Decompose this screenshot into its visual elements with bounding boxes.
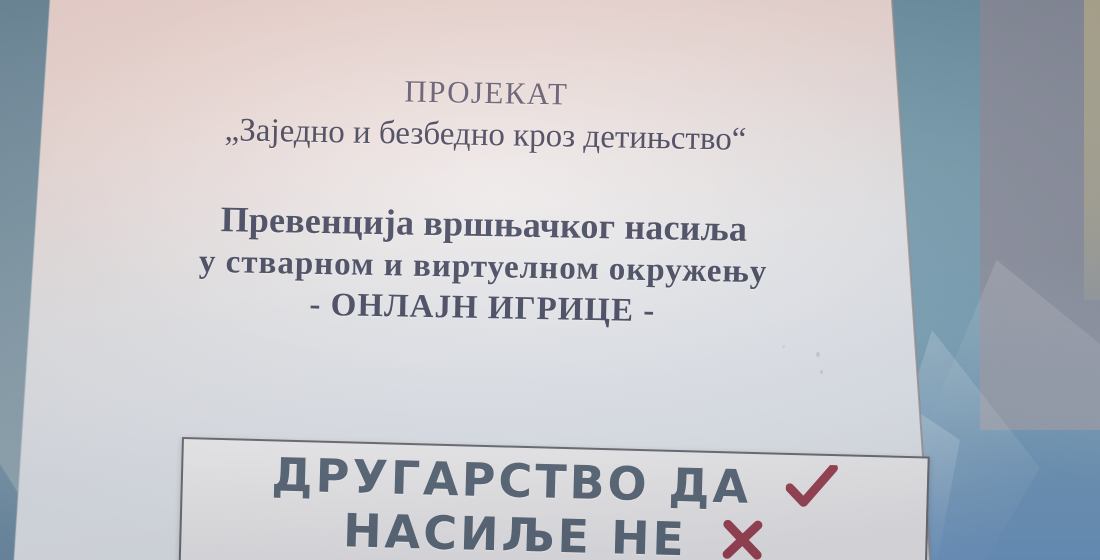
slide-text-block: ПРОЈЕКАТ „Заједно и безбедно кроз детињс…: [57, 0, 913, 337]
screen-speck-3: [782, 345, 785, 348]
project-subtitle: „Заједно и безбедно кроз детињство“: [60, 110, 911, 162]
banner-line-2-label: НАСИЉЕ НЕ: [342, 504, 687, 560]
photo-of-projected-slide: ПРОЈЕКАТ „Заједно и безбедно кроз детињс…: [0, 0, 1100, 560]
project-label: ПРОЈЕКАТ: [61, 68, 911, 117]
poster-banner-text: ДРУГАРСТВО ДА НАСИЉЕ НЕ: [181, 445, 928, 560]
slide-heading: Превенција вршњачког насиља у стварном и…: [57, 194, 909, 337]
poster-banner: ДРУГАРСТВО ДА НАСИЉЕ НЕ: [179, 437, 930, 560]
cross-icon: [721, 518, 764, 560]
wall-right-tan-strip: [1084, 0, 1100, 300]
check-icon: [786, 464, 839, 509]
screen-speck-2: [820, 370, 823, 374]
screen-speck-1: [816, 352, 820, 357]
